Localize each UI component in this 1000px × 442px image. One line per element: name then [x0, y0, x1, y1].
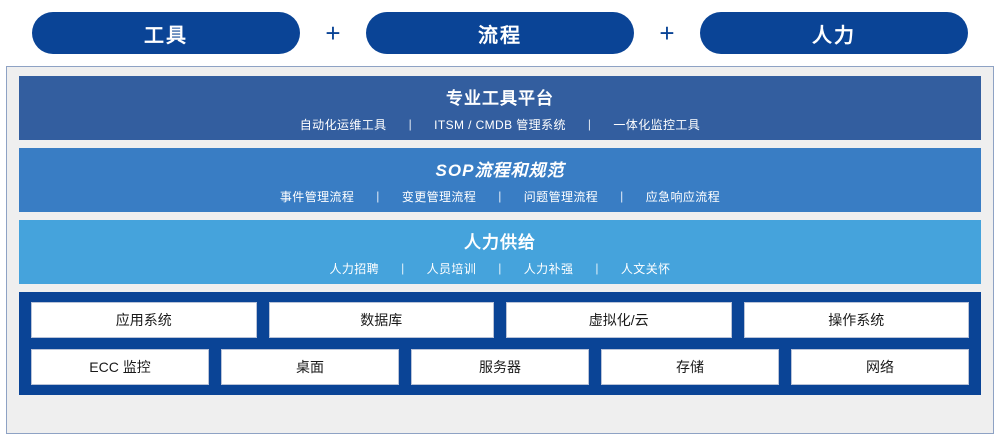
formula-row: 工具 + 流程 + 人力	[0, 0, 1000, 66]
infra-cell-ecc-monitoring[interactable]: ECC 监控	[31, 349, 209, 385]
layer-manpower[interactable]: 人力供给 人力招聘 | 人员培训 | 人力补强 | 人文关怀	[19, 220, 981, 284]
item-separator: |	[588, 117, 592, 131]
capability-panel: 专业工具平台 自动化运维工具 | ITSM / CMDB 管理系统 | 一体化监…	[6, 66, 994, 434]
infra-cell-network[interactable]: 网络	[791, 349, 969, 385]
item-separator: |	[498, 189, 502, 203]
layer-manpower-items: 人力招聘 | 人员培训 | 人力补强 | 人文关怀	[307, 260, 692, 277]
layer-process-item[interactable]: 变更管理流程	[380, 188, 498, 205]
layer-manpower-item[interactable]: 人力招聘	[307, 260, 401, 277]
layer-manpower-item[interactable]: 人员培训	[405, 260, 499, 277]
infra-cell-operating-system[interactable]: 操作系统	[744, 302, 970, 338]
formula-term-tools-label: 工具	[144, 19, 188, 48]
formula-term-tools[interactable]: 工具	[32, 12, 300, 54]
layer-process-item[interactable]: 问题管理流程	[502, 188, 620, 205]
layer-tools[interactable]: 专业工具平台 自动化运维工具 | ITSM / CMDB 管理系统 | 一体化监…	[19, 76, 981, 140]
infra-cell-desktop[interactable]: 桌面	[221, 349, 399, 385]
layer-manpower-item[interactable]: 人文关怀	[599, 260, 693, 277]
plus-icon-2: +	[634, 20, 700, 46]
item-separator: |	[498, 261, 502, 275]
layer-process-title: SOP流程和规范	[436, 156, 565, 181]
infrastructure-row: ECC 监控 桌面 服务器 存储 网络	[31, 349, 969, 385]
formula-term-manpower[interactable]: 人力	[700, 12, 968, 54]
infra-cell-storage[interactable]: 存储	[601, 349, 779, 385]
layer-tools-item[interactable]: ITSM / CMDB 管理系统	[412, 116, 588, 133]
layer-tools-item[interactable]: 自动化运维工具	[278, 116, 409, 133]
formula-term-process[interactable]: 流程	[366, 12, 634, 54]
layer-process-items: 事件管理流程 | 变更管理流程 | 问题管理流程 | 应急响应流程	[258, 188, 742, 205]
item-separator: |	[401, 261, 405, 275]
item-separator: |	[620, 189, 624, 203]
infra-cell-database[interactable]: 数据库	[269, 302, 495, 338]
layer-tools-items: 自动化运维工具 | ITSM / CMDB 管理系统 | 一体化监控工具	[278, 116, 722, 133]
infra-cell-server[interactable]: 服务器	[411, 349, 589, 385]
layer-process-item[interactable]: 事件管理流程	[258, 188, 376, 205]
layer-manpower-title: 人力供给	[464, 228, 536, 253]
layer-process-item[interactable]: 应急响应流程	[624, 188, 742, 205]
layer-manpower-item[interactable]: 人力补强	[502, 260, 596, 277]
infra-cell-virtualization-cloud[interactable]: 虚拟化/云	[506, 302, 732, 338]
infrastructure-row: 应用系统 数据库 虚拟化/云 操作系统	[31, 302, 969, 338]
formula-term-manpower-label: 人力	[812, 19, 856, 48]
layer-tools-item[interactable]: 一体化监控工具	[591, 116, 722, 133]
layer-tools-title: 专业工具平台	[446, 84, 554, 109]
item-separator: |	[595, 261, 599, 275]
formula-term-process-label: 流程	[478, 19, 522, 48]
layer-process[interactable]: SOP流程和规范 事件管理流程 | 变更管理流程 | 问题管理流程 | 应急响应…	[19, 148, 981, 212]
item-separator: |	[376, 189, 380, 203]
item-separator: |	[409, 117, 413, 131]
infra-cell-application[interactable]: 应用系统	[31, 302, 257, 338]
infrastructure-container: 应用系统 数据库 虚拟化/云 操作系统 ECC 监控 桌面 服务器 存储 网络	[19, 292, 981, 395]
plus-icon-1: +	[300, 20, 366, 46]
